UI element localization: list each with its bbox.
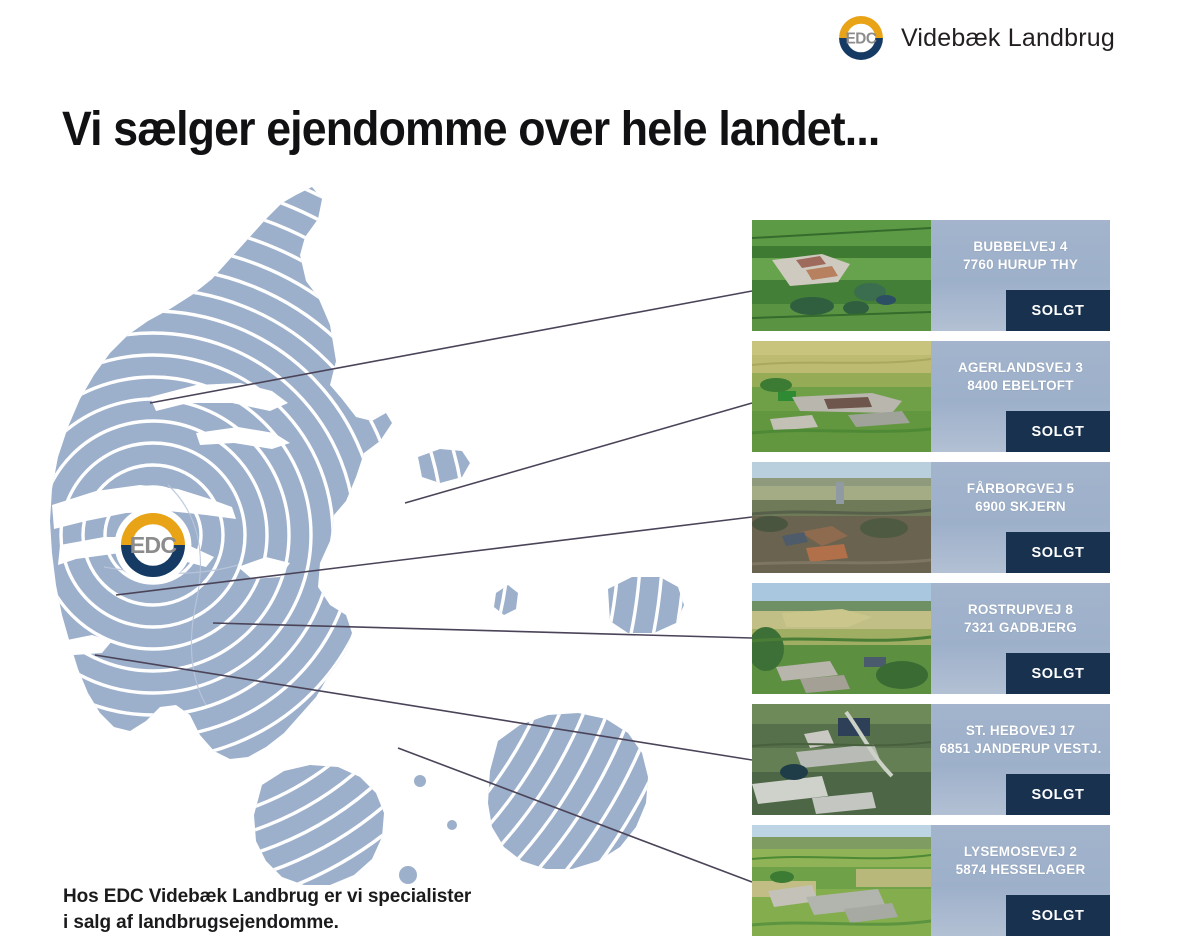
status-badge[interactable]: SOLGT [1006,774,1110,815]
status-badge[interactable]: SOLGT [1006,653,1110,694]
property-card[interactable]: ROSTRUPVEJ 8 7321 GADBJERG SOLGT [752,583,1110,694]
property-address-line1: AGERLANDSVEJ 3 [958,360,1083,375]
property-info-panel: FÅRBORGVEJ 5 6900 SKJERN SOLGT [931,462,1110,573]
property-info-panel: ST. HEBOVEJ 17 6851 JANDERUP VESTJ. SOLG… [931,704,1110,815]
property-address-line1: ROSTRUPVEJ 8 [968,602,1073,617]
property-card[interactable]: BUBBELVEJ 4 7760 HURUP THY SOLGT [752,220,1110,331]
property-address-line1: ST. HEBOVEJ 17 [966,723,1075,738]
property-address-line1: BUBBELVEJ 4 [973,239,1067,254]
aerial-farm-photo-st-hebovej [752,704,931,815]
property-address-line2: 8400 EBELTOFT [958,377,1083,395]
property-info-panel: ROSTRUPVEJ 8 7321 GADBJERG SOLGT [931,583,1110,694]
property-address: LYSEMOSEVEJ 2 5874 HESSELAGER [956,843,1086,879]
brand-header: EDC Videbæk Landbrug [835,14,1115,62]
property-card-list: BUBBELVEJ 4 7760 HURUP THY SOLGT [752,220,1110,946]
property-info-panel: AGERLANDSVEJ 3 8400 EBELTOFT SOLGT [931,341,1110,452]
footer-caption-line1: Hos EDC Videbæk Landbrug er vi specialis… [63,884,471,910]
property-address: AGERLANDSVEJ 3 8400 EBELTOFT [958,359,1083,395]
property-card[interactable]: LYSEMOSEVEJ 2 5874 HESSELAGER SOLGT [752,825,1110,936]
property-address-line2: 7760 HURUP THY [963,256,1078,274]
property-card[interactable]: FÅRBORGVEJ 5 6900 SKJERN SOLGT [752,462,1110,573]
status-badge[interactable]: SOLGT [1006,532,1110,573]
property-address-line1: LYSEMOSEVEJ 2 [964,844,1077,859]
property-address: ROSTRUPVEJ 8 7321 GADBJERG [964,601,1077,637]
property-address: BUBBELVEJ 4 7760 HURUP THY [963,238,1078,274]
status-badge[interactable]: SOLGT [1006,290,1110,331]
status-badge[interactable]: SOLGT [1006,411,1110,452]
denmark-map: EDC [0,185,760,885]
property-address: ST. HEBOVEJ 17 6851 JANDERUP VESTJ. [939,722,1101,758]
map-marker-label: EDC [130,532,178,558]
property-address-line2: 5874 HESSELAGER [956,861,1086,879]
aerial-farm-photo-agerlandsvej [752,341,931,452]
poster-root: EDC Videbæk Landbrug Vi sælger ejendomme… [0,0,1181,951]
aerial-farm-photo-faarborgvej [752,462,931,573]
status-badge[interactable]: SOLGT [1006,895,1110,936]
footer-caption-line2: i salg af landbrugsejendomme. [63,910,471,936]
property-info-panel: LYSEMOSEVEJ 2 5874 HESSELAGER SOLGT [931,825,1110,936]
property-address-line1: FÅRBORGVEJ 5 [967,481,1074,496]
aerial-farm-photo-bubbelvej [752,220,931,331]
footer-caption: Hos EDC Videbæk Landbrug er vi specialis… [63,884,471,935]
property-address-line2: 6851 JANDERUP VESTJ. [939,740,1101,758]
brand-name: Videbæk Landbrug [901,24,1115,53]
aerial-farm-photo-lysemosevej [752,825,931,936]
property-card[interactable]: AGERLANDSVEJ 3 8400 EBELTOFT SOLGT [752,341,1110,452]
edc-logo-icon: EDC [835,14,887,62]
aerial-farm-photo-rostrupvej [752,583,931,694]
property-address: FÅRBORGVEJ 5 6900 SKJERN [967,480,1074,516]
property-address-line2: 6900 SKJERN [967,498,1074,516]
property-info-panel: BUBBELVEJ 4 7760 HURUP THY SOLGT [931,220,1110,331]
edc-logo-marker-icon: EDC [113,505,193,585]
svg-text:EDC: EDC [846,31,877,48]
page-title: Vi sælger ejendomme over hele landet... [62,102,879,157]
property-address-line2: 7321 GADBJERG [964,619,1077,637]
property-card[interactable]: ST. HEBOVEJ 17 6851 JANDERUP VESTJ. SOLG… [752,704,1110,815]
